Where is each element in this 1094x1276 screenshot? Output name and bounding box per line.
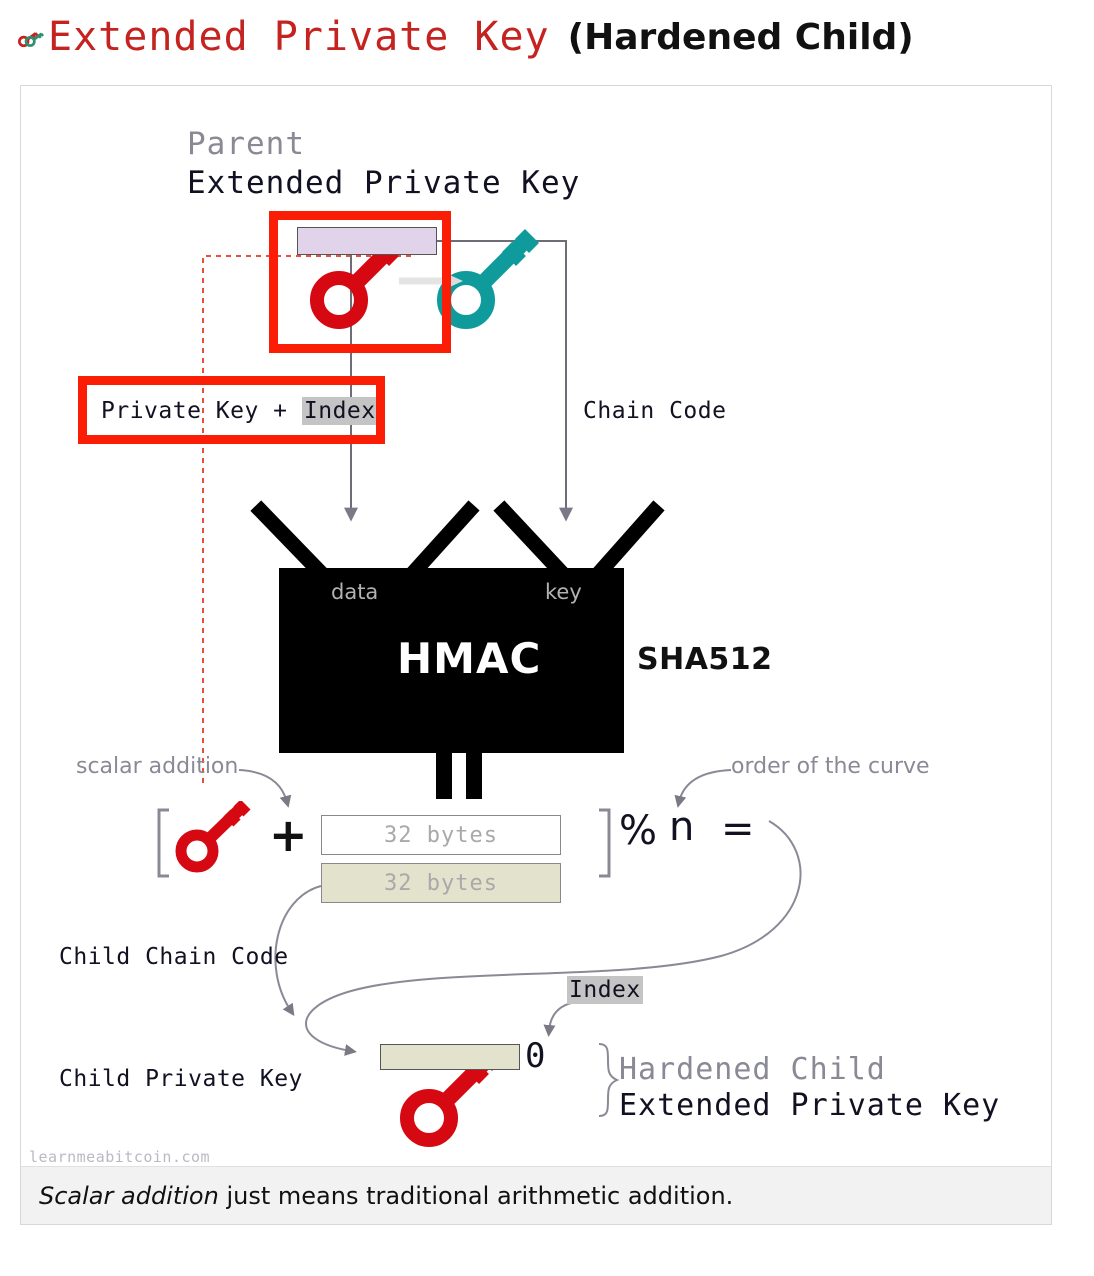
parent-label-top: Parent bbox=[187, 126, 305, 162]
page-title-secondary: (Hardened Child) bbox=[568, 17, 914, 58]
highlight-box-private-key-index bbox=[78, 376, 385, 444]
mod-symbol: % bbox=[619, 808, 657, 854]
funnel-key-right bbox=[599, 511, 654, 573]
page-title: Extended Private Key (Hardened Child) bbox=[18, 14, 914, 60]
teal-key-icon bbox=[444, 234, 534, 322]
figure-caption-bar: Scalar addition just means traditional a… bbox=[21, 1166, 1051, 1224]
plus-operator: + bbox=[269, 808, 308, 862]
scalar-addition-callout bbox=[239, 770, 287, 802]
hmac-name-label: HMAC bbox=[397, 634, 541, 683]
flow-right-label: Chain Code bbox=[583, 398, 726, 424]
hmac-output-stem-left bbox=[436, 751, 452, 799]
child-input-key-icon bbox=[173, 801, 273, 881]
figure-caption-rest: just means traditional arithmetic additi… bbox=[219, 1182, 733, 1210]
funnel-key-left bbox=[504, 511, 562, 573]
child-private-key-label: Child Private Key bbox=[59, 1066, 303, 1092]
equals-symbol: = bbox=[721, 806, 755, 852]
child-chain-code-label: Child Chain Code bbox=[59, 944, 289, 970]
highlight-box-parent-key bbox=[269, 211, 451, 353]
hmac-right-32-bytes-label: 32 bytes bbox=[384, 871, 498, 896]
hmac-hash-label: SHA512 bbox=[637, 642, 773, 677]
key-pair-icon bbox=[18, 22, 44, 52]
scalar-addition-annotation: scalar addition bbox=[76, 754, 238, 779]
child-index-label: Index bbox=[567, 977, 643, 1003]
hmac-left-32-bytes-box: 32 bytes bbox=[321, 815, 561, 855]
hmac-output-stem-right bbox=[466, 751, 482, 799]
bip32-hardened-derivation-diagram: Parent Extended Private Key bbox=[21, 86, 1051, 1191]
funnel-data-left bbox=[261, 511, 321, 573]
result-label-bottom: Extended Private Key bbox=[619, 1088, 1000, 1123]
figure-caption: Scalar addition just means traditional a… bbox=[21, 1182, 733, 1210]
figure-container: Parent Extended Private Key bbox=[20, 85, 1052, 1225]
group-bracket-left bbox=[159, 810, 169, 876]
order-of-curve-callout bbox=[679, 770, 731, 802]
hardened-child-brace bbox=[599, 1044, 617, 1116]
hmac-key-port-label: key bbox=[545, 580, 582, 604]
figure-caption-emphasis: Scalar addition bbox=[39, 1182, 219, 1210]
result-label-top: Hardened Child bbox=[619, 1052, 886, 1087]
page-title-primary: Extended Private Key bbox=[48, 14, 550, 60]
funnel-data-right bbox=[413, 511, 469, 573]
group-bracket-right bbox=[599, 810, 609, 876]
child-index-callout bbox=[549, 1002, 576, 1031]
hmac-data-port-label: data bbox=[331, 580, 378, 604]
parent-label-bottom: Extended Private Key bbox=[187, 165, 580, 201]
child-chain-code-bar bbox=[380, 1044, 520, 1070]
hmac-right-32-bytes-box: 32 bytes bbox=[321, 863, 561, 903]
order-of-curve-annotation: order of the curve bbox=[731, 754, 930, 779]
curve-order-symbol: n bbox=[669, 804, 694, 850]
hmac-left-32-bytes-label: 32 bytes bbox=[384, 823, 498, 848]
watermark: learnmeabitcoin.com bbox=[29, 1148, 210, 1166]
child-index-value: 0 bbox=[525, 1036, 545, 1076]
child-index-label-text: Index bbox=[567, 976, 643, 1004]
